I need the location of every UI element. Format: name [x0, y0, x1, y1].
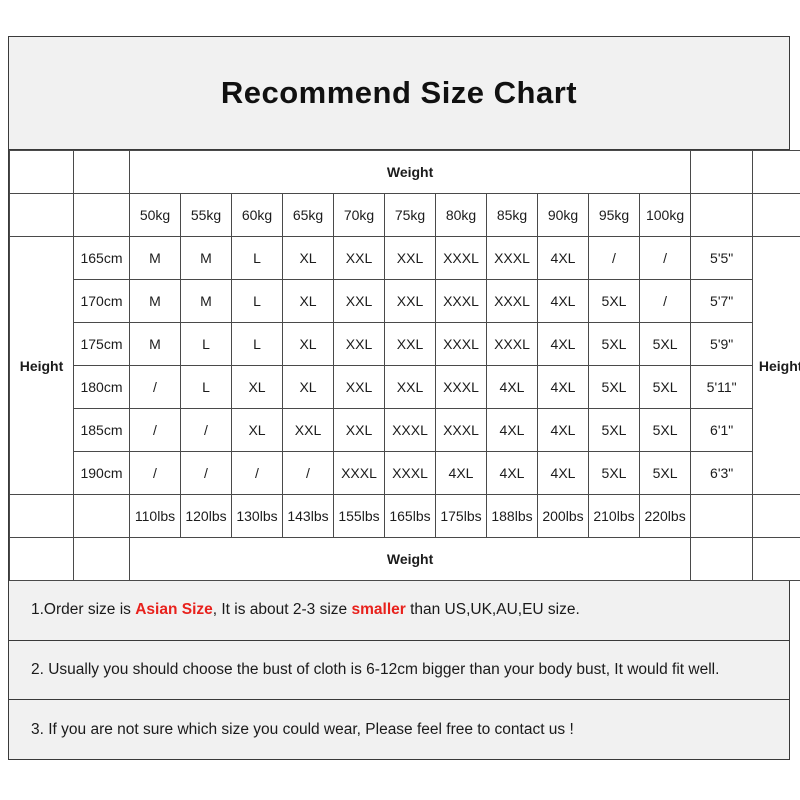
weight-lbs-9: 210lbs [589, 495, 640, 538]
note-2: 2. Usually you should choose the bust of… [9, 641, 789, 701]
size-cell-r0c2: L [232, 237, 283, 280]
size-cell-r3c7: 4XL [487, 366, 538, 409]
height-ft-0: 5'5" [691, 237, 753, 280]
weight-kg-2: 60kg [232, 194, 283, 237]
corner-spacer-topright [691, 151, 753, 194]
note-3: 3. If you are not sure which size you co… [9, 700, 789, 759]
weight-lbs-4: 155lbs [334, 495, 385, 538]
size-cell-r2c1: L [181, 323, 232, 366]
size-cell-r0c8: 4XL [538, 237, 589, 280]
size-cell-r4c8: 4XL [538, 409, 589, 452]
size-chart-card: Recommend Size Chart Weight [8, 36, 790, 760]
kgrow-spacer-left [10, 194, 74, 237]
lbrow-spacer-left [10, 495, 74, 538]
height-cm-3: 180cm [74, 366, 130, 409]
size-cell-r0c5: XXL [385, 237, 436, 280]
size-cell-r5c7: 4XL [487, 452, 538, 495]
size-cell-r3c9: 5XL [589, 366, 640, 409]
table-row: 180cm / L XL XL XXL XXL XXXL 4XL 4XL 5XL… [10, 366, 800, 409]
table-row: 170cm M M L XL XXL XXL XXXL XXXL 4XL 5XL… [10, 280, 800, 323]
page-title: Recommend Size Chart [221, 75, 577, 111]
size-cell-r1c1: M [181, 280, 232, 323]
table-row: 175cm M L L XL XXL XXL XXXL XXXL 4XL 5XL… [10, 323, 800, 366]
size-cell-r1c8: 4XL [538, 280, 589, 323]
size-cell-r3c10: 5XL [640, 366, 691, 409]
height-cm-1: 170cm [74, 280, 130, 323]
weight-kg-10: 100kg [640, 194, 691, 237]
title-band: Recommend Size Chart [9, 37, 789, 150]
size-cell-r1c6: XXXL [436, 280, 487, 323]
weight-header-row: Weight [10, 151, 800, 194]
size-cell-r4c1: / [181, 409, 232, 452]
weight-lbs-1: 120lbs [181, 495, 232, 538]
size-cell-r3c4: XXL [334, 366, 385, 409]
kgrow-spacer-left2 [74, 194, 130, 237]
size-cell-r3c1: L [181, 366, 232, 409]
size-cell-r1c2: L [232, 280, 283, 323]
lbrow-spacer-right [691, 495, 753, 538]
height-label-right: Height [753, 237, 800, 495]
height-ft-1: 5'7" [691, 280, 753, 323]
size-cell-r2c8: 4XL [538, 323, 589, 366]
note-1-segment-1: 1.Order size is [31, 601, 135, 619]
size-cell-r2c7: XXXL [487, 323, 538, 366]
size-cell-r5c6: 4XL [436, 452, 487, 495]
weight-lbs-2: 130lbs [232, 495, 283, 538]
size-cell-r4c4: XXL [334, 409, 385, 452]
weight-kg-5: 75kg [385, 194, 436, 237]
size-cell-r2c6: XXXL [436, 323, 487, 366]
corner-spacer-topleft [10, 151, 74, 194]
size-cell-r0c3: XL [283, 237, 334, 280]
size-cell-r5c10: 5XL [640, 452, 691, 495]
footer-spacer-left2 [74, 538, 130, 581]
height-label-left: Height [10, 237, 74, 495]
table-row: Height 165cm M M L XL XXL XXL XXXL XXXL … [10, 237, 800, 280]
size-cell-r1c10: / [640, 280, 691, 323]
note-1-segment-2: Asian Size [135, 601, 213, 619]
size-cell-r5c4: XXXL [334, 452, 385, 495]
size-cell-r3c0: / [130, 366, 181, 409]
weight-lbs-6: 175lbs [436, 495, 487, 538]
height-ft-5: 6'3" [691, 452, 753, 495]
weight-kg-8: 90kg [538, 194, 589, 237]
table-row: 190cm / / / / XXXL XXXL 4XL 4XL 4XL 5XL … [10, 452, 800, 495]
footer-spacer-left [10, 538, 74, 581]
weight-kg-4: 70kg [334, 194, 385, 237]
corner-spacer-topleft2 [74, 151, 130, 194]
kgrow-spacer-right [691, 194, 753, 237]
size-cell-r0c10: / [640, 237, 691, 280]
size-cell-r3c5: XXL [385, 366, 436, 409]
weight-lbs-0: 110lbs [130, 495, 181, 538]
weight-lbs-10: 220lbs [640, 495, 691, 538]
size-cell-r2c0: M [130, 323, 181, 366]
size-cell-r2c4: XXL [334, 323, 385, 366]
size-cell-r4c6: XXXL [436, 409, 487, 452]
weight-lbs-5: 165lbs [385, 495, 436, 538]
size-cell-r1c4: XXL [334, 280, 385, 323]
weight-header-bottom: Weight [130, 538, 691, 581]
size-cell-r0c9: / [589, 237, 640, 280]
height-ft-2: 5'9" [691, 323, 753, 366]
size-cell-r5c0: / [130, 452, 181, 495]
size-cell-r2c5: XXL [385, 323, 436, 366]
corner-spacer-topright2 [753, 151, 800, 194]
height-ft-3: 5'11" [691, 366, 753, 409]
weight-footer-row: Weight [10, 538, 800, 581]
height-cm-2: 175cm [74, 323, 130, 366]
note-2-segment-1: 2. Usually you should choose the bust of… [31, 661, 719, 679]
size-cell-r3c6: XXXL [436, 366, 487, 409]
height-cm-0: 165cm [74, 237, 130, 280]
size-table: Weight 50kg 55kg 60kg 65kg 70kg 75kg 80k… [9, 150, 800, 581]
height-cm-5: 190cm [74, 452, 130, 495]
size-cell-r4c9: 5XL [589, 409, 640, 452]
size-table-body: Weight 50kg 55kg 60kg 65kg 70kg 75kg 80k… [10, 151, 800, 581]
size-cell-r5c8: 4XL [538, 452, 589, 495]
size-cell-r2c10: 5XL [640, 323, 691, 366]
size-cell-r4c3: XXL [283, 409, 334, 452]
weight-kg-0: 50kg [130, 194, 181, 237]
size-cell-r1c7: XXXL [487, 280, 538, 323]
lbrow-spacer-right2 [753, 495, 800, 538]
size-cell-r1c3: XL [283, 280, 334, 323]
size-cell-r4c10: 5XL [640, 409, 691, 452]
size-cell-r2c9: 5XL [589, 323, 640, 366]
size-cell-r3c2: XL [232, 366, 283, 409]
size-cell-r0c1: M [181, 237, 232, 280]
weight-lbs-7: 188lbs [487, 495, 538, 538]
note-1: 1.Order size is Asian Size, It is about … [9, 581, 789, 641]
size-cell-r3c3: XL [283, 366, 334, 409]
size-cell-r5c1: / [181, 452, 232, 495]
weight-kg-7: 85kg [487, 194, 538, 237]
weight-kg-9: 95kg [589, 194, 640, 237]
size-cell-r2c3: XL [283, 323, 334, 366]
weight-kg-3: 65kg [283, 194, 334, 237]
weight-kg-row: 50kg 55kg 60kg 65kg 70kg 75kg 80kg 85kg … [10, 194, 800, 237]
size-cell-r5c2: / [232, 452, 283, 495]
weight-kg-1: 55kg [181, 194, 232, 237]
size-cell-r0c4: XXL [334, 237, 385, 280]
note-1-segment-3: , It is about 2-3 size [213, 601, 352, 619]
weight-header-top: Weight [130, 151, 691, 194]
size-cell-r0c6: XXXL [436, 237, 487, 280]
kgrow-spacer-right2 [753, 194, 800, 237]
size-cell-r4c2: XL [232, 409, 283, 452]
size-cell-r5c3: / [283, 452, 334, 495]
size-cell-r5c5: XXXL [385, 452, 436, 495]
height-cm-4: 185cm [74, 409, 130, 452]
notes-section: 1.Order size is Asian Size, It is about … [9, 581, 789, 759]
lbrow-spacer-left2 [74, 495, 130, 538]
size-cell-r4c5: XXXL [385, 409, 436, 452]
size-cell-r4c7: 4XL [487, 409, 538, 452]
size-cell-r0c0: M [130, 237, 181, 280]
size-cell-r0c7: XXXL [487, 237, 538, 280]
size-cell-r2c2: L [232, 323, 283, 366]
note-3-segment-1: 3. If you are not sure which size you co… [31, 721, 574, 739]
size-cell-r5c9: 5XL [589, 452, 640, 495]
weight-kg-6: 80kg [436, 194, 487, 237]
weight-lbs-row: 110lbs 120lbs 130lbs 143lbs 155lbs 165lb… [10, 495, 800, 538]
size-cell-r1c9: 5XL [589, 280, 640, 323]
table-row: 185cm / / XL XXL XXL XXXL XXXL 4XL 4XL 5… [10, 409, 800, 452]
weight-lbs-8: 200lbs [538, 495, 589, 538]
height-ft-4: 6'1" [691, 409, 753, 452]
footer-spacer-right2 [753, 538, 800, 581]
note-1-segment-5: than US,UK,AU,EU size. [406, 601, 580, 619]
size-cell-r1c0: M [130, 280, 181, 323]
weight-lbs-3: 143lbs [283, 495, 334, 538]
note-1-segment-4: smaller [351, 601, 405, 619]
size-cell-r3c8: 4XL [538, 366, 589, 409]
size-cell-r1c5: XXL [385, 280, 436, 323]
footer-spacer-right [691, 538, 753, 581]
size-cell-r4c0: / [130, 409, 181, 452]
size-table-container: Weight 50kg 55kg 60kg 65kg 70kg 75kg 80k… [9, 150, 789, 581]
